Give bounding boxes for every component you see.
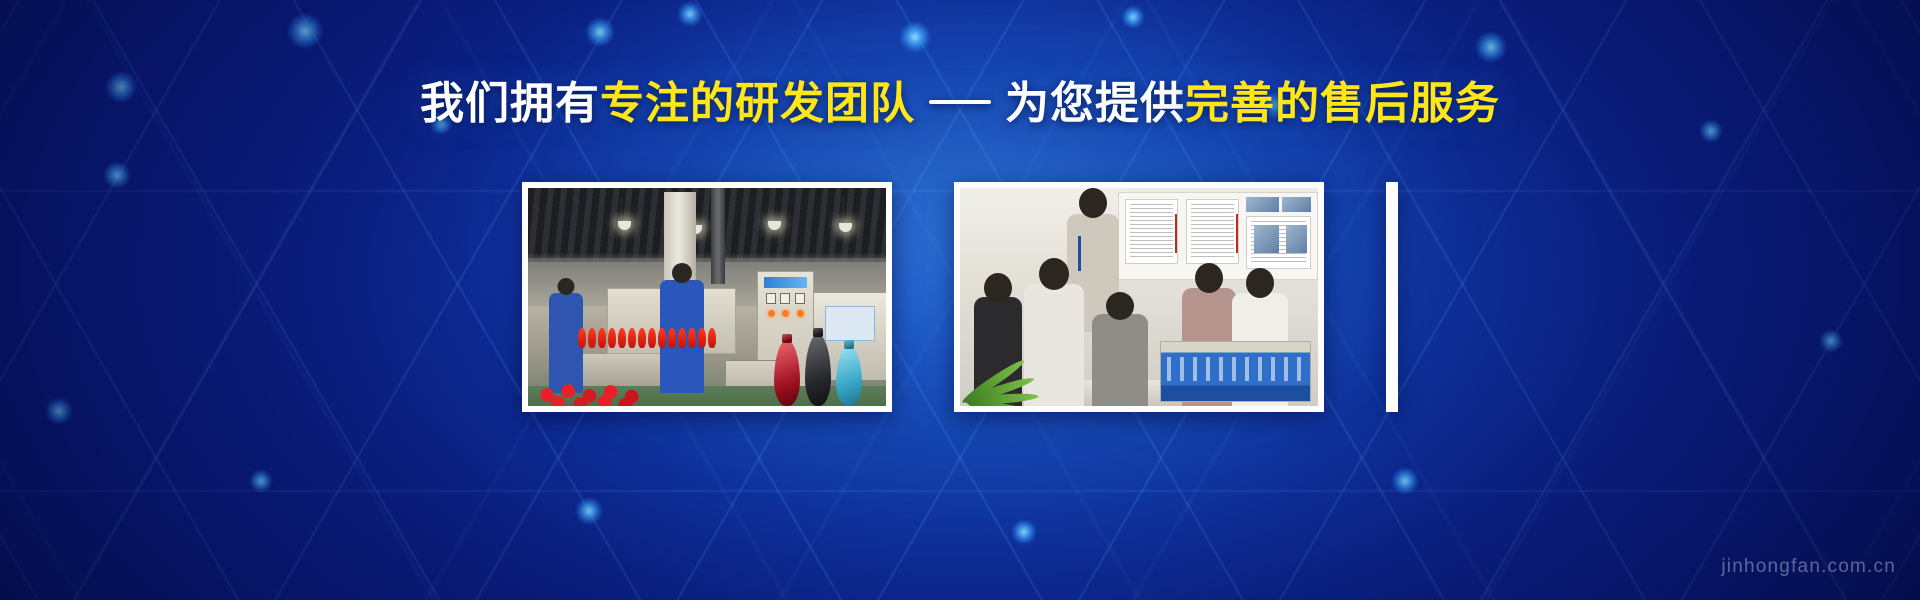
- photo-rnd-meeting: [960, 188, 1318, 406]
- headline-segment-1: 我们拥有: [420, 79, 600, 128]
- photo-panel-rnd-meeting[interactable]: [954, 182, 1324, 412]
- photo-panel-workshop-collage[interactable]: [1386, 182, 1398, 412]
- site-watermark: jinhongfan.com.cn: [1721, 556, 1896, 578]
- headline-separator-dash: [929, 100, 991, 104]
- headline-container: 我们拥有专注的研发团队为您提供完善的售后服务: [0, 78, 1920, 131]
- promo-banner: 我们拥有专注的研发团队为您提供完善的售后服务: [0, 0, 1920, 600]
- headline-segment-2: 专注的研发团队: [600, 79, 915, 128]
- headline-segment-3: 为您提供: [1005, 79, 1185, 128]
- product-vases: [753, 310, 882, 406]
- page-title: 我们拥有专注的研发团队为您提供完善的售后服务: [420, 78, 1500, 131]
- headline-segment-4: 完善的售后服务: [1185, 79, 1500, 128]
- photo-production-line: [528, 188, 886, 406]
- photo-gallery: [0, 182, 1920, 412]
- photo-panel-production-line[interactable]: [522, 182, 892, 412]
